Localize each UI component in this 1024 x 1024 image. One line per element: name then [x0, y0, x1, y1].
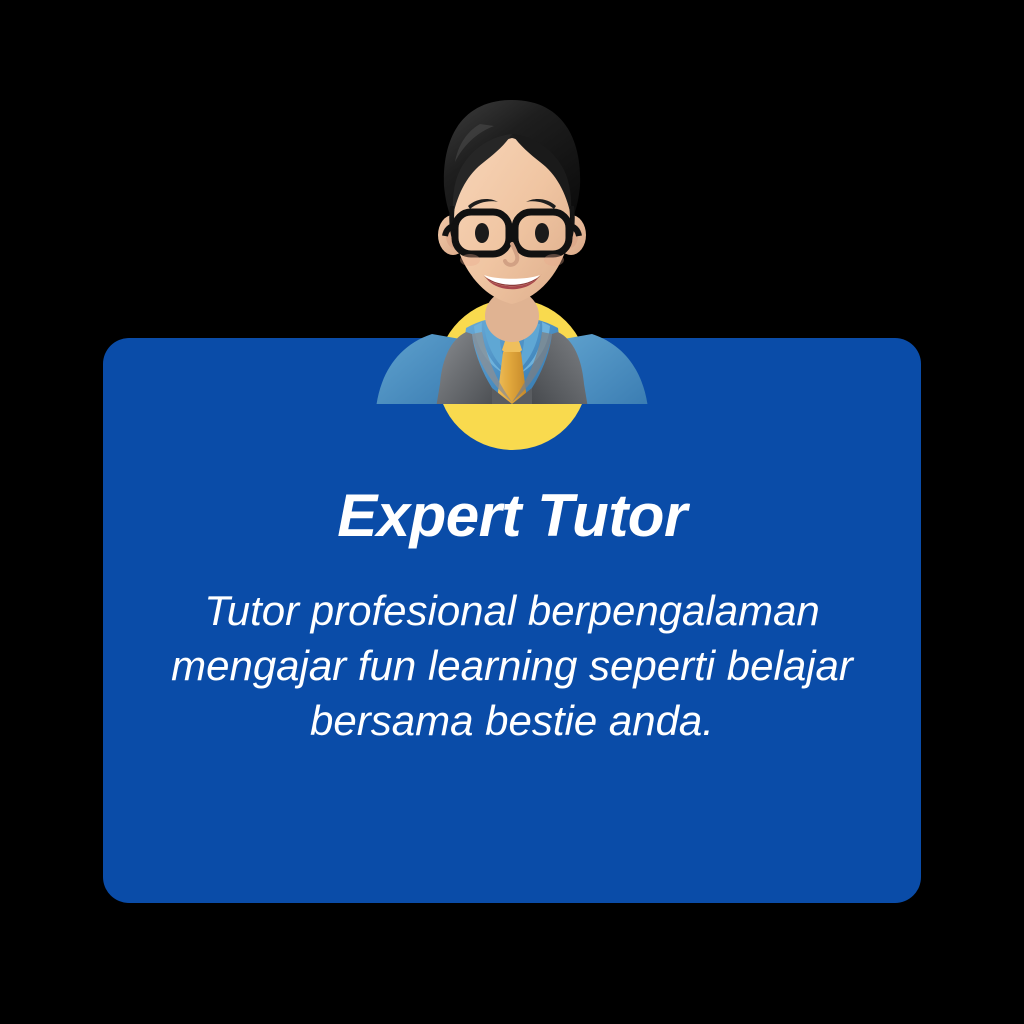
promo-card-canvas: Expert Tutor Tutor profesional berpengal… [0, 0, 1024, 1024]
eye-left [475, 223, 489, 243]
eye-right [535, 223, 549, 243]
tutor-avatar-illustration [362, 88, 662, 408]
